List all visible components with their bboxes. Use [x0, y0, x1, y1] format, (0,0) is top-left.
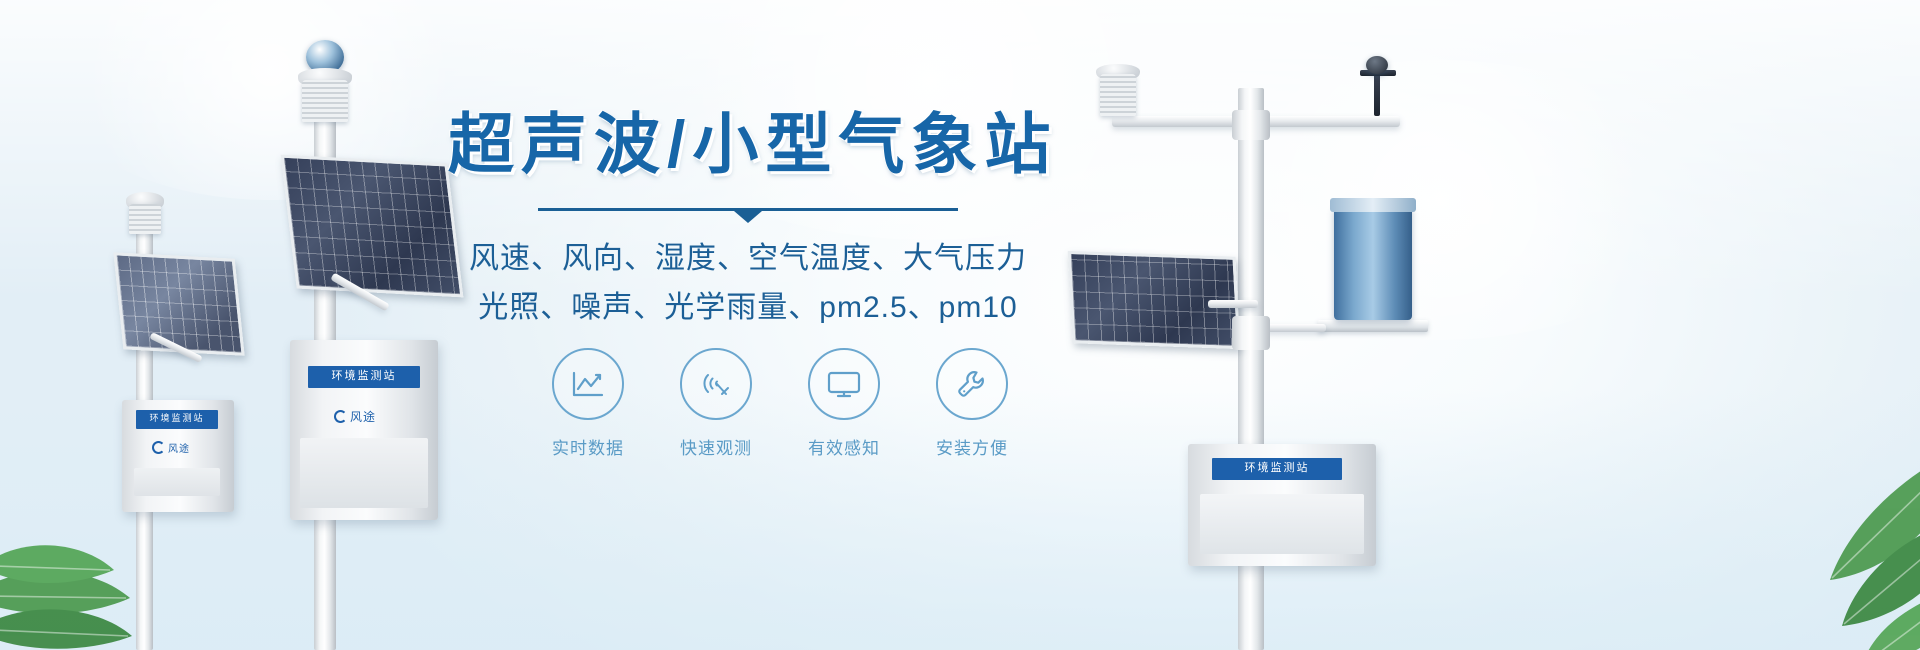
rain-gauge-lip	[1330, 198, 1416, 212]
equipment-label: 环境监测站	[308, 366, 420, 388]
feature-label: 有效感知	[796, 434, 892, 459]
line-chart-icon	[552, 348, 624, 420]
radar-signal-icon	[680, 348, 752, 420]
mast-collar-lower	[1232, 316, 1270, 350]
rain-gauge	[1334, 206, 1412, 320]
product-banner: 环境监测站 风途 环境监测站 风途	[0, 0, 1920, 650]
subtitle-line-2: 光照、噪声、光学雨量、pm2.5、pm10	[448, 284, 1048, 333]
divider-triangle-icon	[734, 211, 762, 223]
wrench-tool-icon	[936, 348, 1008, 420]
solar-panel	[113, 252, 244, 356]
enclosure-door	[300, 438, 428, 508]
subtitle-group: 风速、风向、湿度、空气温度、大气压力 光照、噪声、光学雨量、pm2.5、pm10	[448, 235, 1048, 332]
leaf-decoration-left	[0, 440, 220, 650]
banner-text-block: 超声波/小型气象站 风速、风向、湿度、空气温度、大气压力 光照、噪声、光学雨量、…	[448, 108, 1048, 332]
monitor-screen-icon	[808, 348, 880, 420]
leaf-decoration-right	[1660, 410, 1920, 650]
feature-label: 安装方便	[924, 434, 1020, 459]
wind-vane-sensor-icon	[1366, 56, 1388, 74]
feature-item-easy-install[interactable]: 安装方便	[924, 348, 1020, 459]
page-title: 超声波/小型气象站	[448, 108, 1048, 182]
feature-label: 快速观测	[668, 434, 764, 459]
wind-vane-mast	[1374, 70, 1380, 116]
feature-item-fast-observation[interactable]: 快速观测	[668, 348, 764, 459]
subtitle-line-1: 风速、风向、湿度、空气温度、大气压力	[448, 235, 1048, 284]
enclosure-door	[1200, 494, 1364, 554]
feature-list: 实时数据 快速观测 有效感知	[540, 348, 1020, 459]
brand-logo-glyph	[334, 410, 347, 423]
brand-logo: 风途	[334, 408, 376, 425]
rain-gauge-shelf	[1318, 320, 1428, 332]
ultrasonic-anemometer-icon	[1100, 74, 1136, 116]
feature-item-effective-sensing[interactable]: 有效感知	[796, 348, 892, 459]
radiation-shield-icon	[129, 204, 161, 234]
radiation-shield-icon	[302, 80, 348, 122]
weather-station-right: 环境监测站	[1060, 48, 1480, 650]
feature-item-realtime-data[interactable]: 实时数据	[540, 348, 636, 459]
title-divider	[538, 208, 958, 211]
panel-support-arm	[1208, 300, 1258, 308]
equipment-label: 环境监测站	[1212, 458, 1342, 480]
feature-label: 实时数据	[540, 434, 636, 459]
mast-collar-upper	[1232, 110, 1270, 140]
solar-panel	[281, 155, 464, 298]
brand-logo-text: 风途	[350, 408, 376, 425]
equipment-label: 环境监测站	[136, 410, 218, 429]
